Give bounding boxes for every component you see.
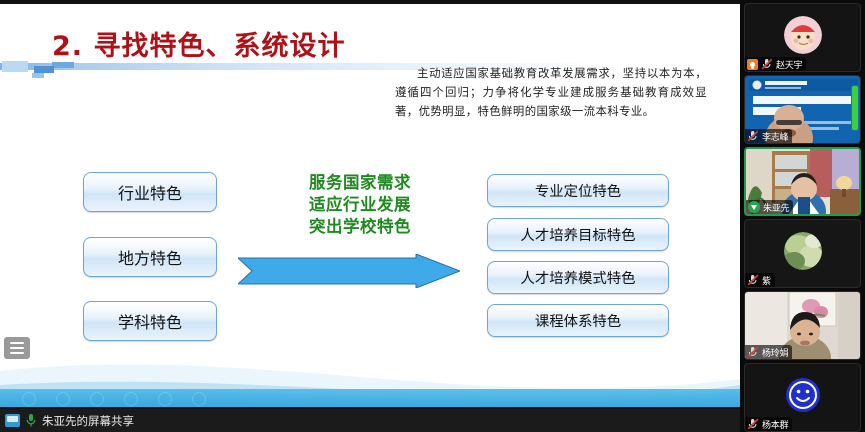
participant-name-bar: 赵天宇: [745, 57, 806, 71]
participant-filmstrip[interactable]: 赵天宇: [740, 0, 865, 432]
right-arrow-icon: [238, 254, 460, 288]
mic-muted-icon: [747, 130, 759, 142]
participant-name: 朱亚先: [763, 201, 789, 214]
smiley-avatar-icon: [786, 378, 820, 412]
avatar: [784, 232, 822, 270]
right-box-3-label: 人才培养模式特色: [520, 267, 635, 288]
participant-name: 杨本群: [762, 418, 788, 431]
left-box-1: 行业特色: [83, 172, 217, 212]
left-box-1-label: 行业特色: [118, 180, 182, 204]
right-box-2: 人才培养目标特色: [487, 218, 669, 251]
divider-block-2: [34, 66, 54, 73]
participant-tile-3[interactable]: 朱亚先: [744, 147, 861, 216]
right-box-1: 专业定位特色: [487, 174, 669, 207]
presentation-slide[interactable]: 2. 寻找特色、系统设计 主动适应国家基础教育改革发展需求，坚持以本为本，遵循四…: [0, 4, 740, 407]
left-box-2: 地方特色: [83, 237, 217, 277]
divider-block-4: [32, 73, 44, 78]
left-box-3: 学科特色: [83, 301, 217, 341]
participant-name-bar: 紫: [745, 273, 775, 287]
conference-window: 2. 寻找特色、系统设计 主动适应国家基础教育改革发展需求，坚持以本为本，遵循四…: [0, 0, 865, 432]
avatar: [784, 16, 822, 54]
screen-share-icon: [5, 414, 20, 427]
slide-title: 2. 寻找特色、系统设计: [52, 24, 345, 63]
center-slogan-line-2: 适应行业发展: [272, 194, 448, 216]
participant-name: 李志峰: [762, 130, 788, 143]
right-box-4: 课程体系特色: [487, 304, 669, 337]
participant-name: 紫: [762, 274, 771, 287]
center-slogan-line-3: 突出学校特色: [272, 216, 448, 238]
right-box-1-label: 专业定位特色: [535, 180, 621, 201]
mic-muted-icon: [747, 418, 759, 430]
participant-tile-4[interactable]: 紫: [744, 219, 861, 288]
host-badge-icon: [747, 59, 758, 70]
participant-tile-1[interactable]: 赵天宇: [744, 3, 861, 72]
divider-block-1: [2, 61, 28, 72]
participant-tile-2[interactable]: 李志峰: [744, 75, 861, 144]
screen-share-region[interactable]: 2. 寻找特色、系统设计 主动适应国家基础教育改革发展需求，坚持以本为本，遵循四…: [0, 0, 740, 432]
participant-name-bar: 李志峰: [745, 129, 792, 143]
ppt-pen-icon[interactable]: [90, 392, 104, 406]
share-status-label: 朱亚先的屏幕共享: [42, 413, 134, 429]
volume-indicator: [851, 85, 859, 131]
participant-name-bar: 杨本群: [745, 417, 792, 431]
participant-name: 赵天宇: [776, 58, 802, 71]
left-box-3-label: 学科特色: [118, 309, 182, 333]
left-box-2-label: 地方特色: [118, 245, 182, 269]
right-box-2-label: 人才培养目标特色: [520, 224, 635, 245]
ppt-slides-icon[interactable]: [124, 392, 138, 406]
participant-tile-5[interactable]: 杨玲娟: [744, 291, 861, 360]
mic-muted-icon: [747, 346, 759, 358]
right-box-4-label: 课程体系特色: [535, 310, 621, 331]
participant-name-bar: 朱亚先: [746, 200, 793, 214]
center-slogan: 服务国家需求 适应行业发展 突出学校特色: [272, 172, 448, 238]
mic-muted-icon: [761, 58, 773, 70]
participant-tile-6[interactable]: 杨本群: [744, 363, 861, 432]
participant-name-bar: 杨玲娟: [745, 345, 792, 359]
lower-hand-icon: [748, 201, 760, 213]
ppt-zoom-icon[interactable]: [158, 392, 172, 406]
slide-paragraph: 主动适应国家基础教育改革发展需求，坚持以本为本，遵循四个回归；力争将化学专业建成…: [395, 64, 707, 121]
share-status-bar: 朱亚先的屏幕共享: [0, 409, 740, 432]
ppt-next-icon[interactable]: [56, 392, 70, 406]
mic-muted-icon: [747, 274, 759, 286]
center-slogan-line-1: 服务国家需求: [272, 172, 448, 194]
participant-name: 杨玲娟: [762, 346, 788, 359]
ppt-prev-icon[interactable]: [22, 392, 36, 406]
ppt-more-icon[interactable]: [192, 392, 206, 406]
microphone-icon: [25, 413, 37, 428]
right-box-3: 人才培养模式特色: [487, 261, 669, 294]
ppt-toolbar[interactable]: [0, 389, 740, 407]
